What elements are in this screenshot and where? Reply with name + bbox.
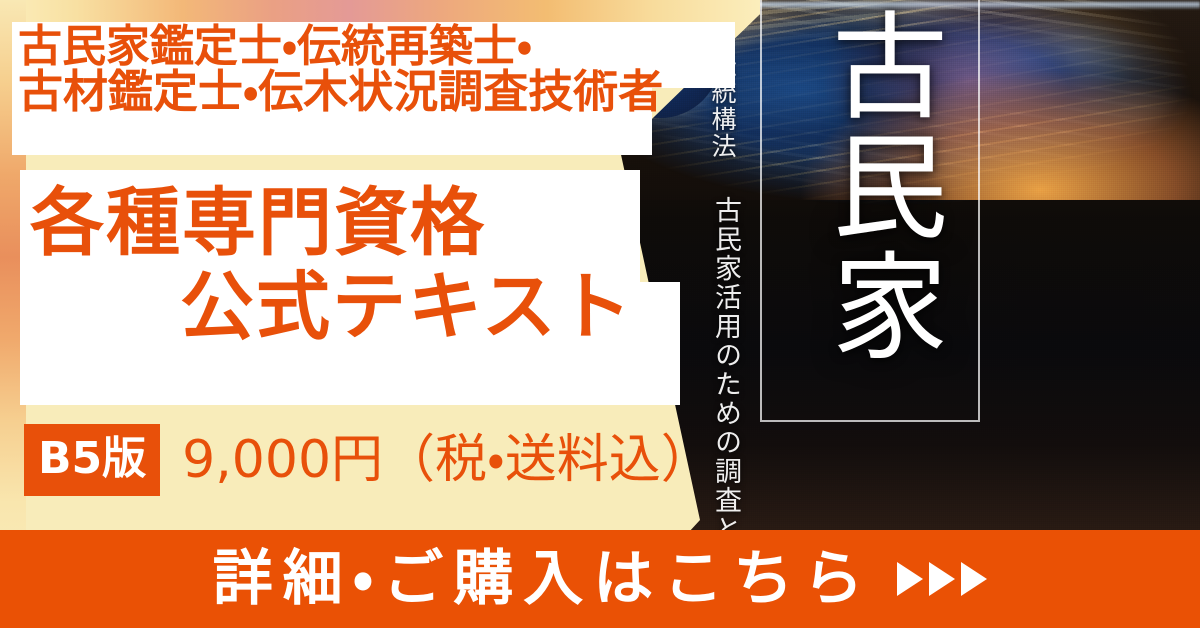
size-badge: B5版 [24, 424, 160, 496]
cover-subtitle-bottom: 古民家活用のための調査と再生の [706, 196, 745, 585]
right-arrow-icon-3 [961, 562, 987, 596]
cover-title: 古民家 [796, 6, 946, 366]
headline-text: 各種専門資格 公式テキスト [20, 182, 680, 349]
headline-line-1: 各種専門資格 [20, 182, 680, 266]
promo-banner: 古民家 伝統構法 古民家活用のための調査と再生の 古民家鑑定士・伝統再築士・ 古… [0, 0, 1200, 628]
certifications-line-2: 古材鑑定士・伝木状況調査技術者 [18, 69, 734, 115]
right-arrow-icon-1 [897, 562, 923, 596]
headline-line-2: 公式テキスト [20, 266, 680, 350]
price-row: B5版 9,000円（税・送料込） [24, 424, 713, 496]
triple-right-arrow-icon [897, 562, 987, 596]
cta-label: 詳細・ご購入はこちら [213, 549, 873, 609]
certifications-text: 古民家鑑定士・伝統再築士・ 古材鑑定士・伝木状況調査技術者 [18, 24, 734, 116]
right-arrow-icon-2 [929, 562, 955, 596]
cta-button[interactable]: 詳細・ご購入はこちら [0, 530, 1200, 628]
certifications-line-1: 古民家鑑定士・伝統再築士・ [18, 24, 734, 69]
price-amount: 9,000円（税・送料込） [182, 434, 713, 486]
